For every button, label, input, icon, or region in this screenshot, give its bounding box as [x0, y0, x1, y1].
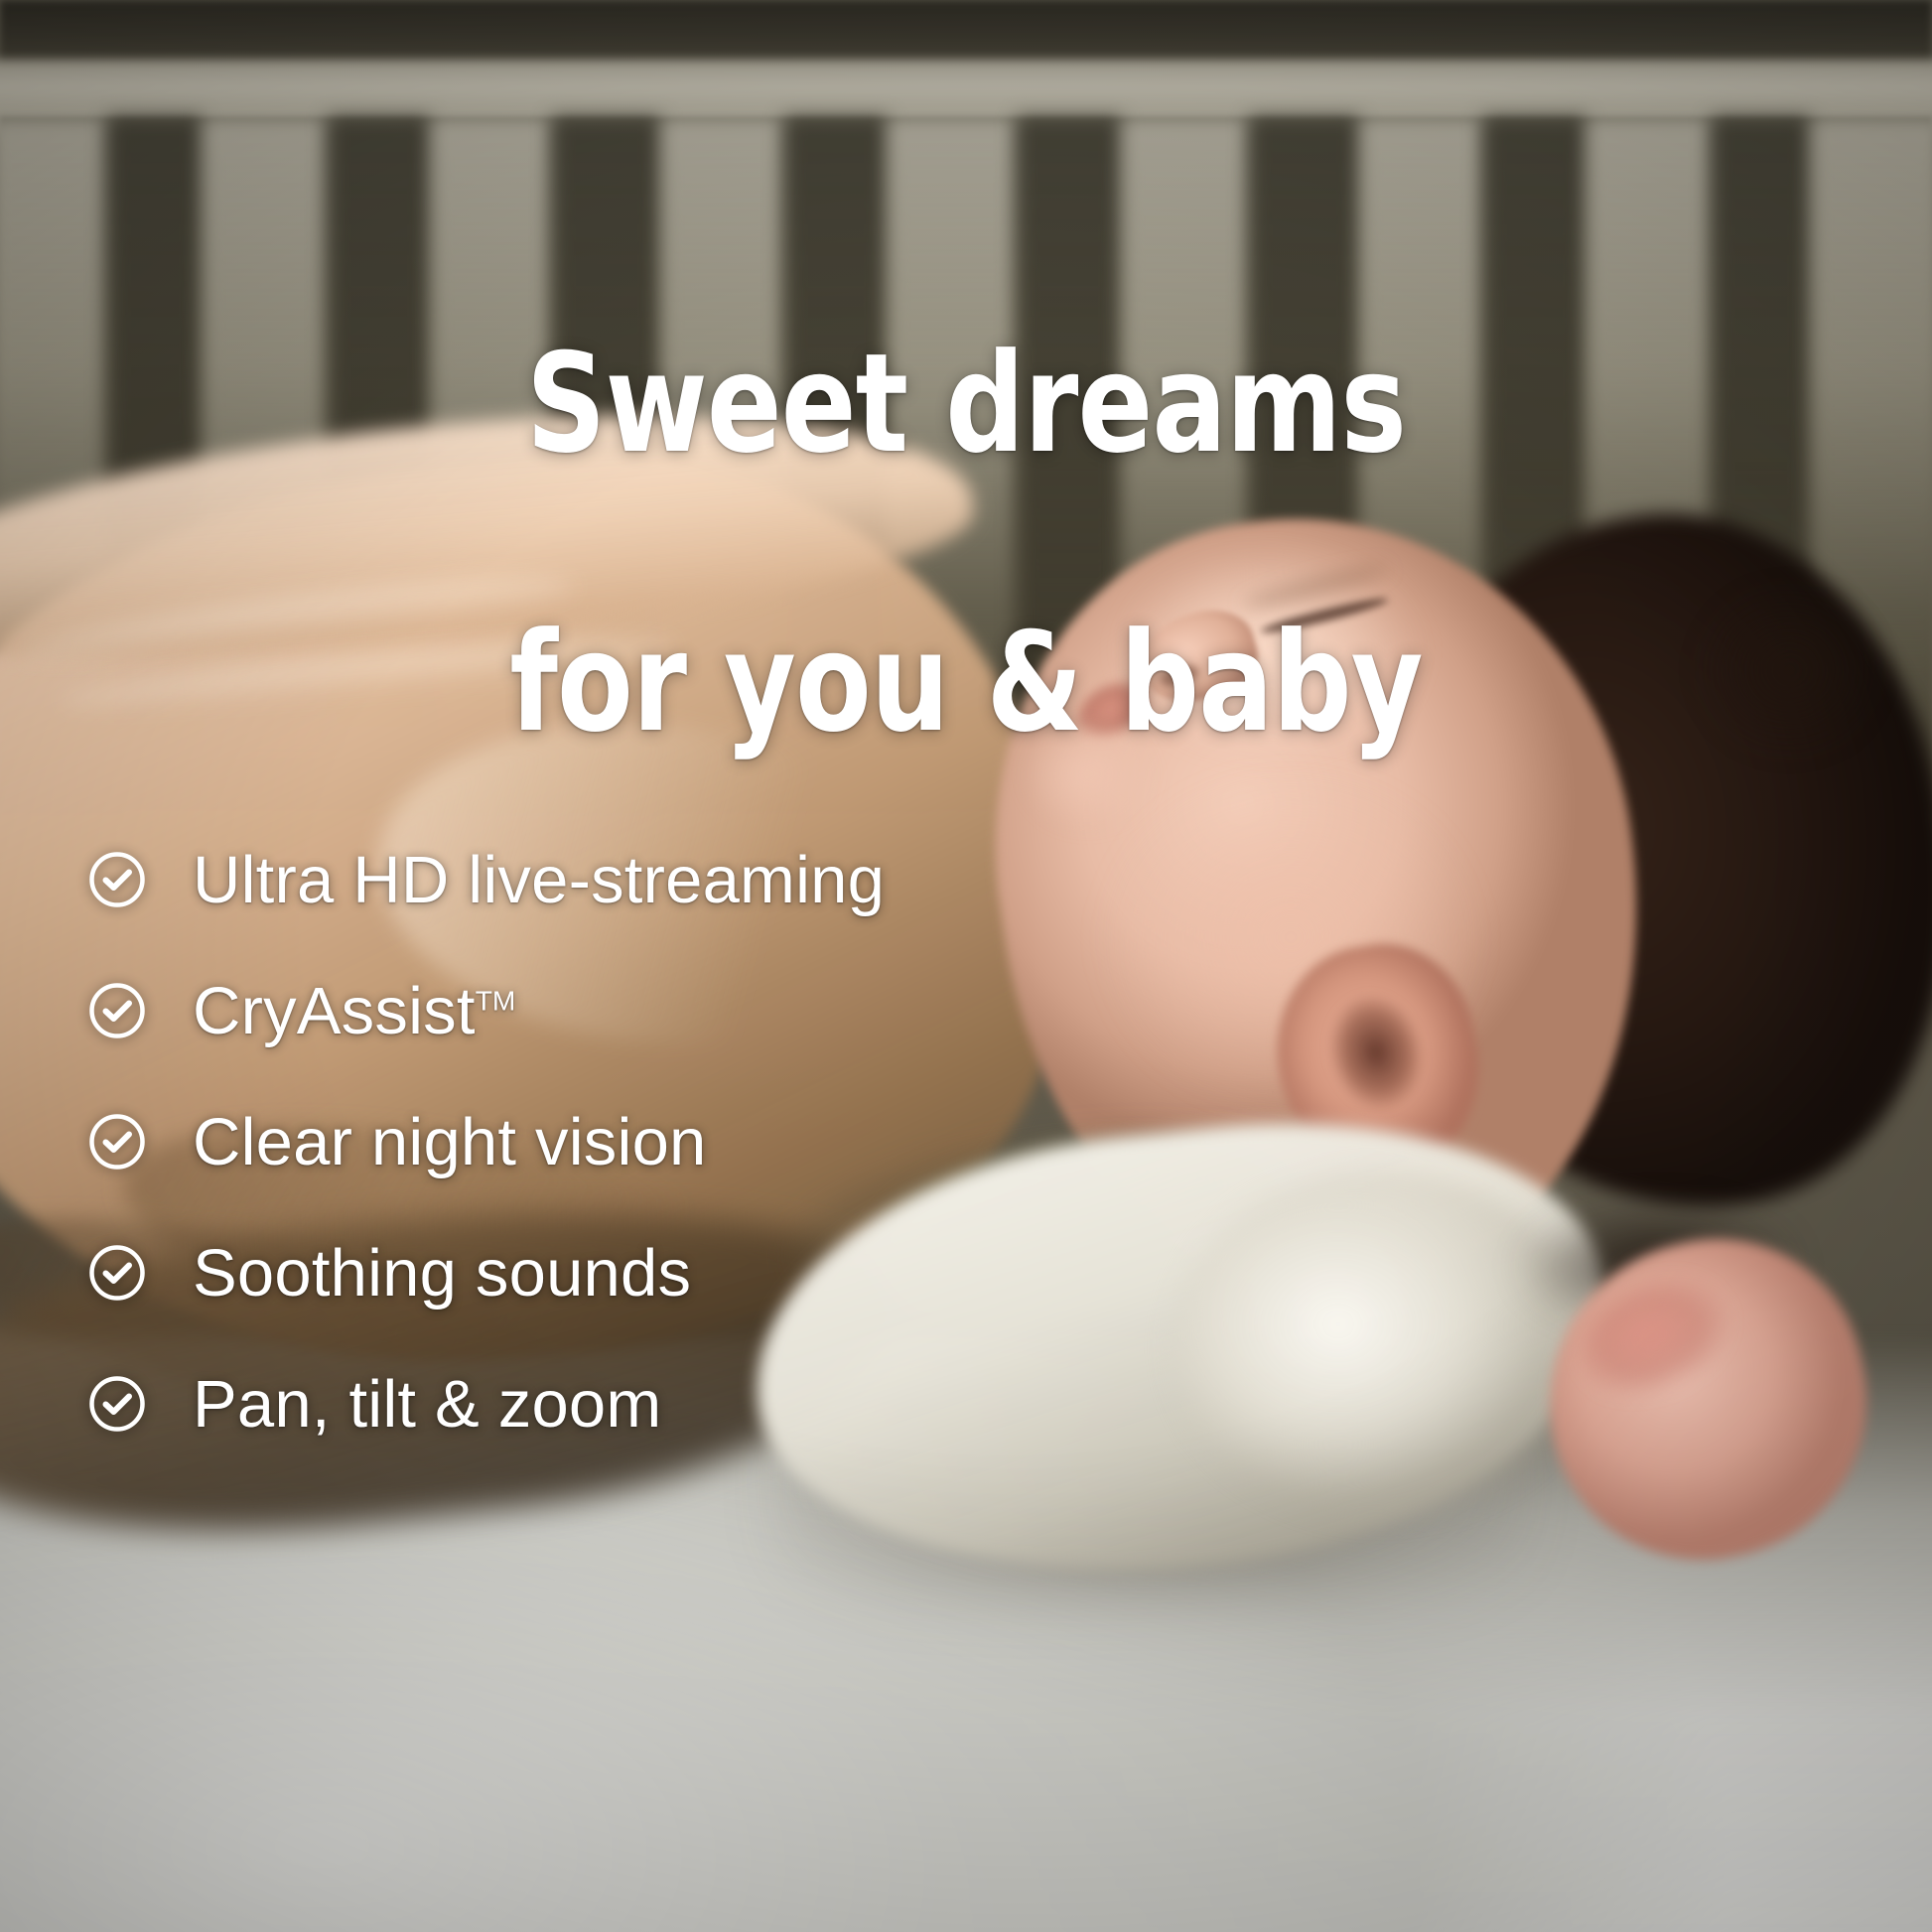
page-title: Sweet dreams for you & baby	[96, 195, 1835, 894]
feature-item-cryassist: CryAssistTM	[87, 983, 885, 1038]
feature-label: Pan, tilt & zoom	[193, 1371, 661, 1438]
check-circle-icon	[87, 1243, 147, 1303]
feature-label-text: CryAssist	[193, 974, 476, 1048]
feature-label: Clear night vision	[193, 1109, 707, 1175]
feature-label: Soothing sounds	[193, 1240, 691, 1307]
check-circle-icon	[87, 850, 147, 909]
headline-line-1: Sweet dreams	[96, 335, 1835, 475]
feature-item-night-vision: Clear night vision	[87, 1114, 885, 1170]
check-circle-icon	[87, 1112, 147, 1172]
text-overlay: Sweet dreams for you & baby Ultra HD liv…	[0, 0, 1932, 1932]
feature-item-pan-tilt-zoom: Pan, tilt & zoom	[87, 1376, 885, 1432]
check-circle-icon	[87, 981, 147, 1040]
feature-item-soothing-sounds: Soothing sounds	[87, 1245, 885, 1301]
feature-item-ultra-hd: Ultra HD live-streaming	[87, 852, 885, 907]
promo-image: Sweet dreams for you & baby Ultra HD liv…	[0, 0, 1932, 1932]
feature-label: CryAssistTM	[193, 978, 515, 1044]
feature-list: Ultra HD live-streaming CryAssistTM	[87, 852, 885, 1432]
trademark-symbol: TM	[476, 985, 516, 1016]
headline-line-2: for you & baby	[96, 614, 1835, 754]
check-circle-icon	[87, 1374, 147, 1434]
feature-label: Ultra HD live-streaming	[193, 847, 885, 913]
